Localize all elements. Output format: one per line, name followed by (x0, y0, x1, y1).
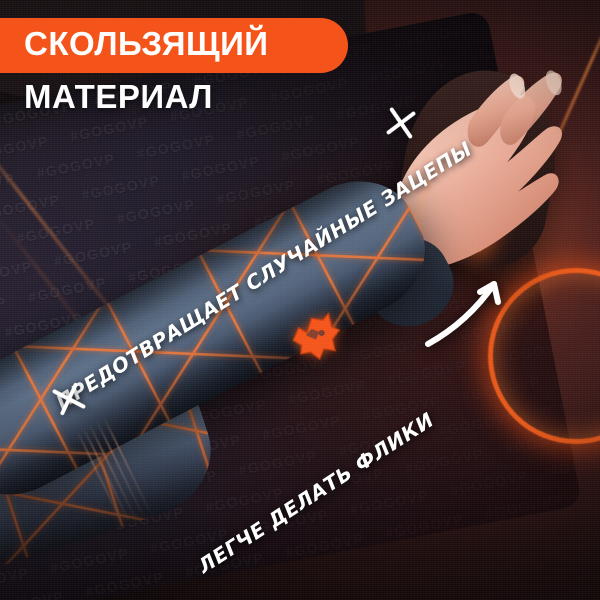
headline-badge: СКОЛЬЗЯЩИЙ (0, 18, 348, 73)
headline-line-1: СКОЛЬЗЯЩИЙ (24, 27, 308, 62)
promo-image: #GOGOVP#GOGOVP#GOGOVP#GOGOVP#GOGOVP#GOGO… (0, 0, 600, 600)
headline-line-2: МАТЕРИАЛ (24, 80, 213, 115)
x-mark-icon-right (384, 106, 418, 140)
curved-arrow-icon (424, 258, 522, 350)
headline-block: СКОЛЬЗЯЩИЙ МАТЕРИАЛ (0, 18, 348, 73)
